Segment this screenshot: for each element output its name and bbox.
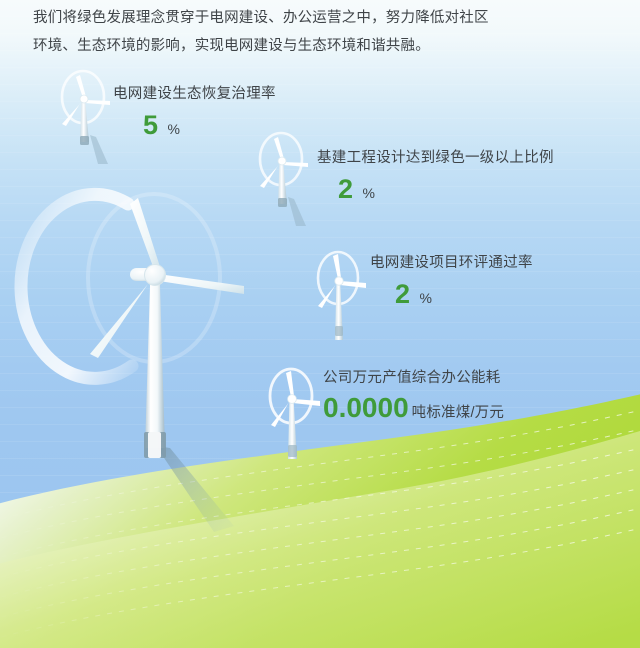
metric-value: 0.0000	[323, 392, 409, 424]
wind-turbine-small-2	[252, 134, 324, 230]
metric-value: 2	[395, 278, 411, 310]
wind-turbine-small-3	[308, 248, 376, 344]
metric-value: 2	[338, 173, 354, 205]
metric-block-green-grade-design: 基建工程设计达到绿色一级以上比例 2 %	[317, 148, 554, 205]
metric-block-office-energy-intensity: 公司万元产值综合办公能耗 0.0000 吨标准煤/万元	[323, 368, 504, 424]
metric-value-row: 2 %	[338, 173, 554, 205]
metric-label: 电网建设项目环评通过率	[370, 253, 533, 273]
metric-unit: %	[420, 288, 433, 308]
metric-value-row: 0.0000 吨标准煤/万元	[323, 392, 504, 424]
metric-value-row: 2 %	[395, 278, 533, 310]
metric-label: 公司万元产值综合办公能耗	[323, 368, 504, 388]
metric-value: 5	[143, 109, 159, 141]
metric-unit: %	[363, 183, 376, 203]
infographic-poster: 我们将绿色发展理念贯穿于电网建设、办公运营之中，努力降低对社区 环境、生态环境的…	[0, 0, 640, 648]
metric-unit: %	[168, 119, 181, 139]
intro-paragraph: 我们将绿色发展理念贯穿于电网建设、办公运营之中，努力降低对社区 环境、生态环境的…	[33, 4, 613, 60]
metric-unit: 吨标准煤/万元	[412, 403, 504, 423]
metric-value-row: 5 %	[143, 109, 276, 141]
metric-label: 基建工程设计达到绿色一级以上比例	[317, 148, 554, 168]
metric-label: 电网建设生态恢复治理率	[113, 84, 276, 104]
wind-turbine-small-4	[258, 363, 330, 463]
metric-block-eia-pass-rate: 电网建设项目环评通过率 2 %	[370, 253, 533, 310]
metric-block-eco-restoration: 电网建设生态恢复治理率 5 %	[113, 84, 276, 141]
